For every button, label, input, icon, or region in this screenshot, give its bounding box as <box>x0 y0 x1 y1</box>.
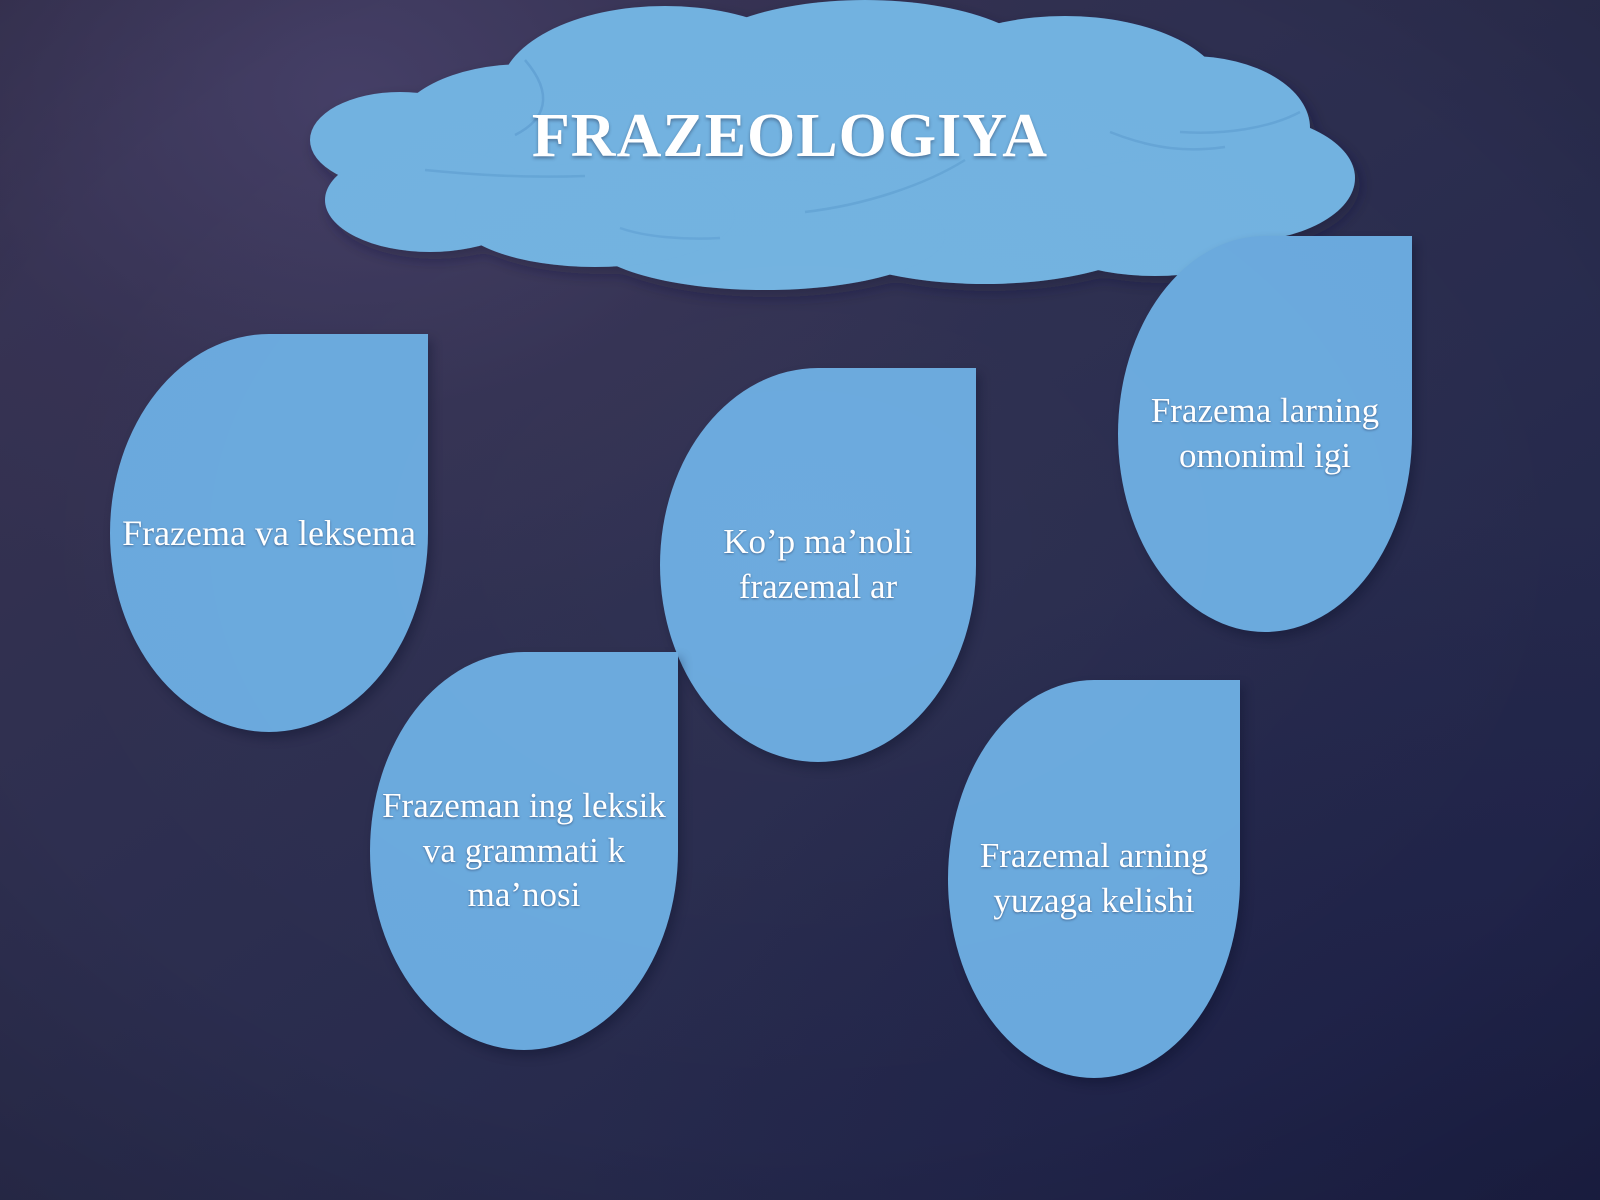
title-cloud: FRAZEOLOGIYA <box>225 0 1355 290</box>
page-title: FRAZEOLOGIYA <box>225 105 1355 167</box>
concept-drop-label: Ko’p ma’noli frazemal ar <box>660 520 976 610</box>
concept-drop-frazemaning-leksik-va-grammatik-manosi[interactable]: Frazeman ing leksik va grammati k ma’nos… <box>370 652 678 1050</box>
concept-drop-frazemalarning-yuzaga-kelishi[interactable]: Frazemal arning yuzaga kelishi <box>948 680 1240 1078</box>
concept-drop-label: Frazema va leksema <box>112 510 426 556</box>
concept-drop-label: Frazemal arning yuzaga kelishi <box>948 834 1240 924</box>
concept-drop-label: Frazeman ing leksik va grammati k ma’nos… <box>370 784 678 918</box>
concept-drop-kop-manoli-frazemalar[interactable]: Ko’p ma’noli frazemal ar <box>660 368 976 762</box>
concept-drop-frazemalarning-omonimligi[interactable]: Frazema larning omoniml igi <box>1118 236 1412 632</box>
presentation-slide: FRAZEOLOGIYA Frazema va leksema Ko’p ma’… <box>0 0 1600 1200</box>
concept-drop-frazema-va-leksema[interactable]: Frazema va leksema <box>110 334 428 732</box>
concept-drop-label: Frazema larning omoniml igi <box>1118 389 1412 479</box>
